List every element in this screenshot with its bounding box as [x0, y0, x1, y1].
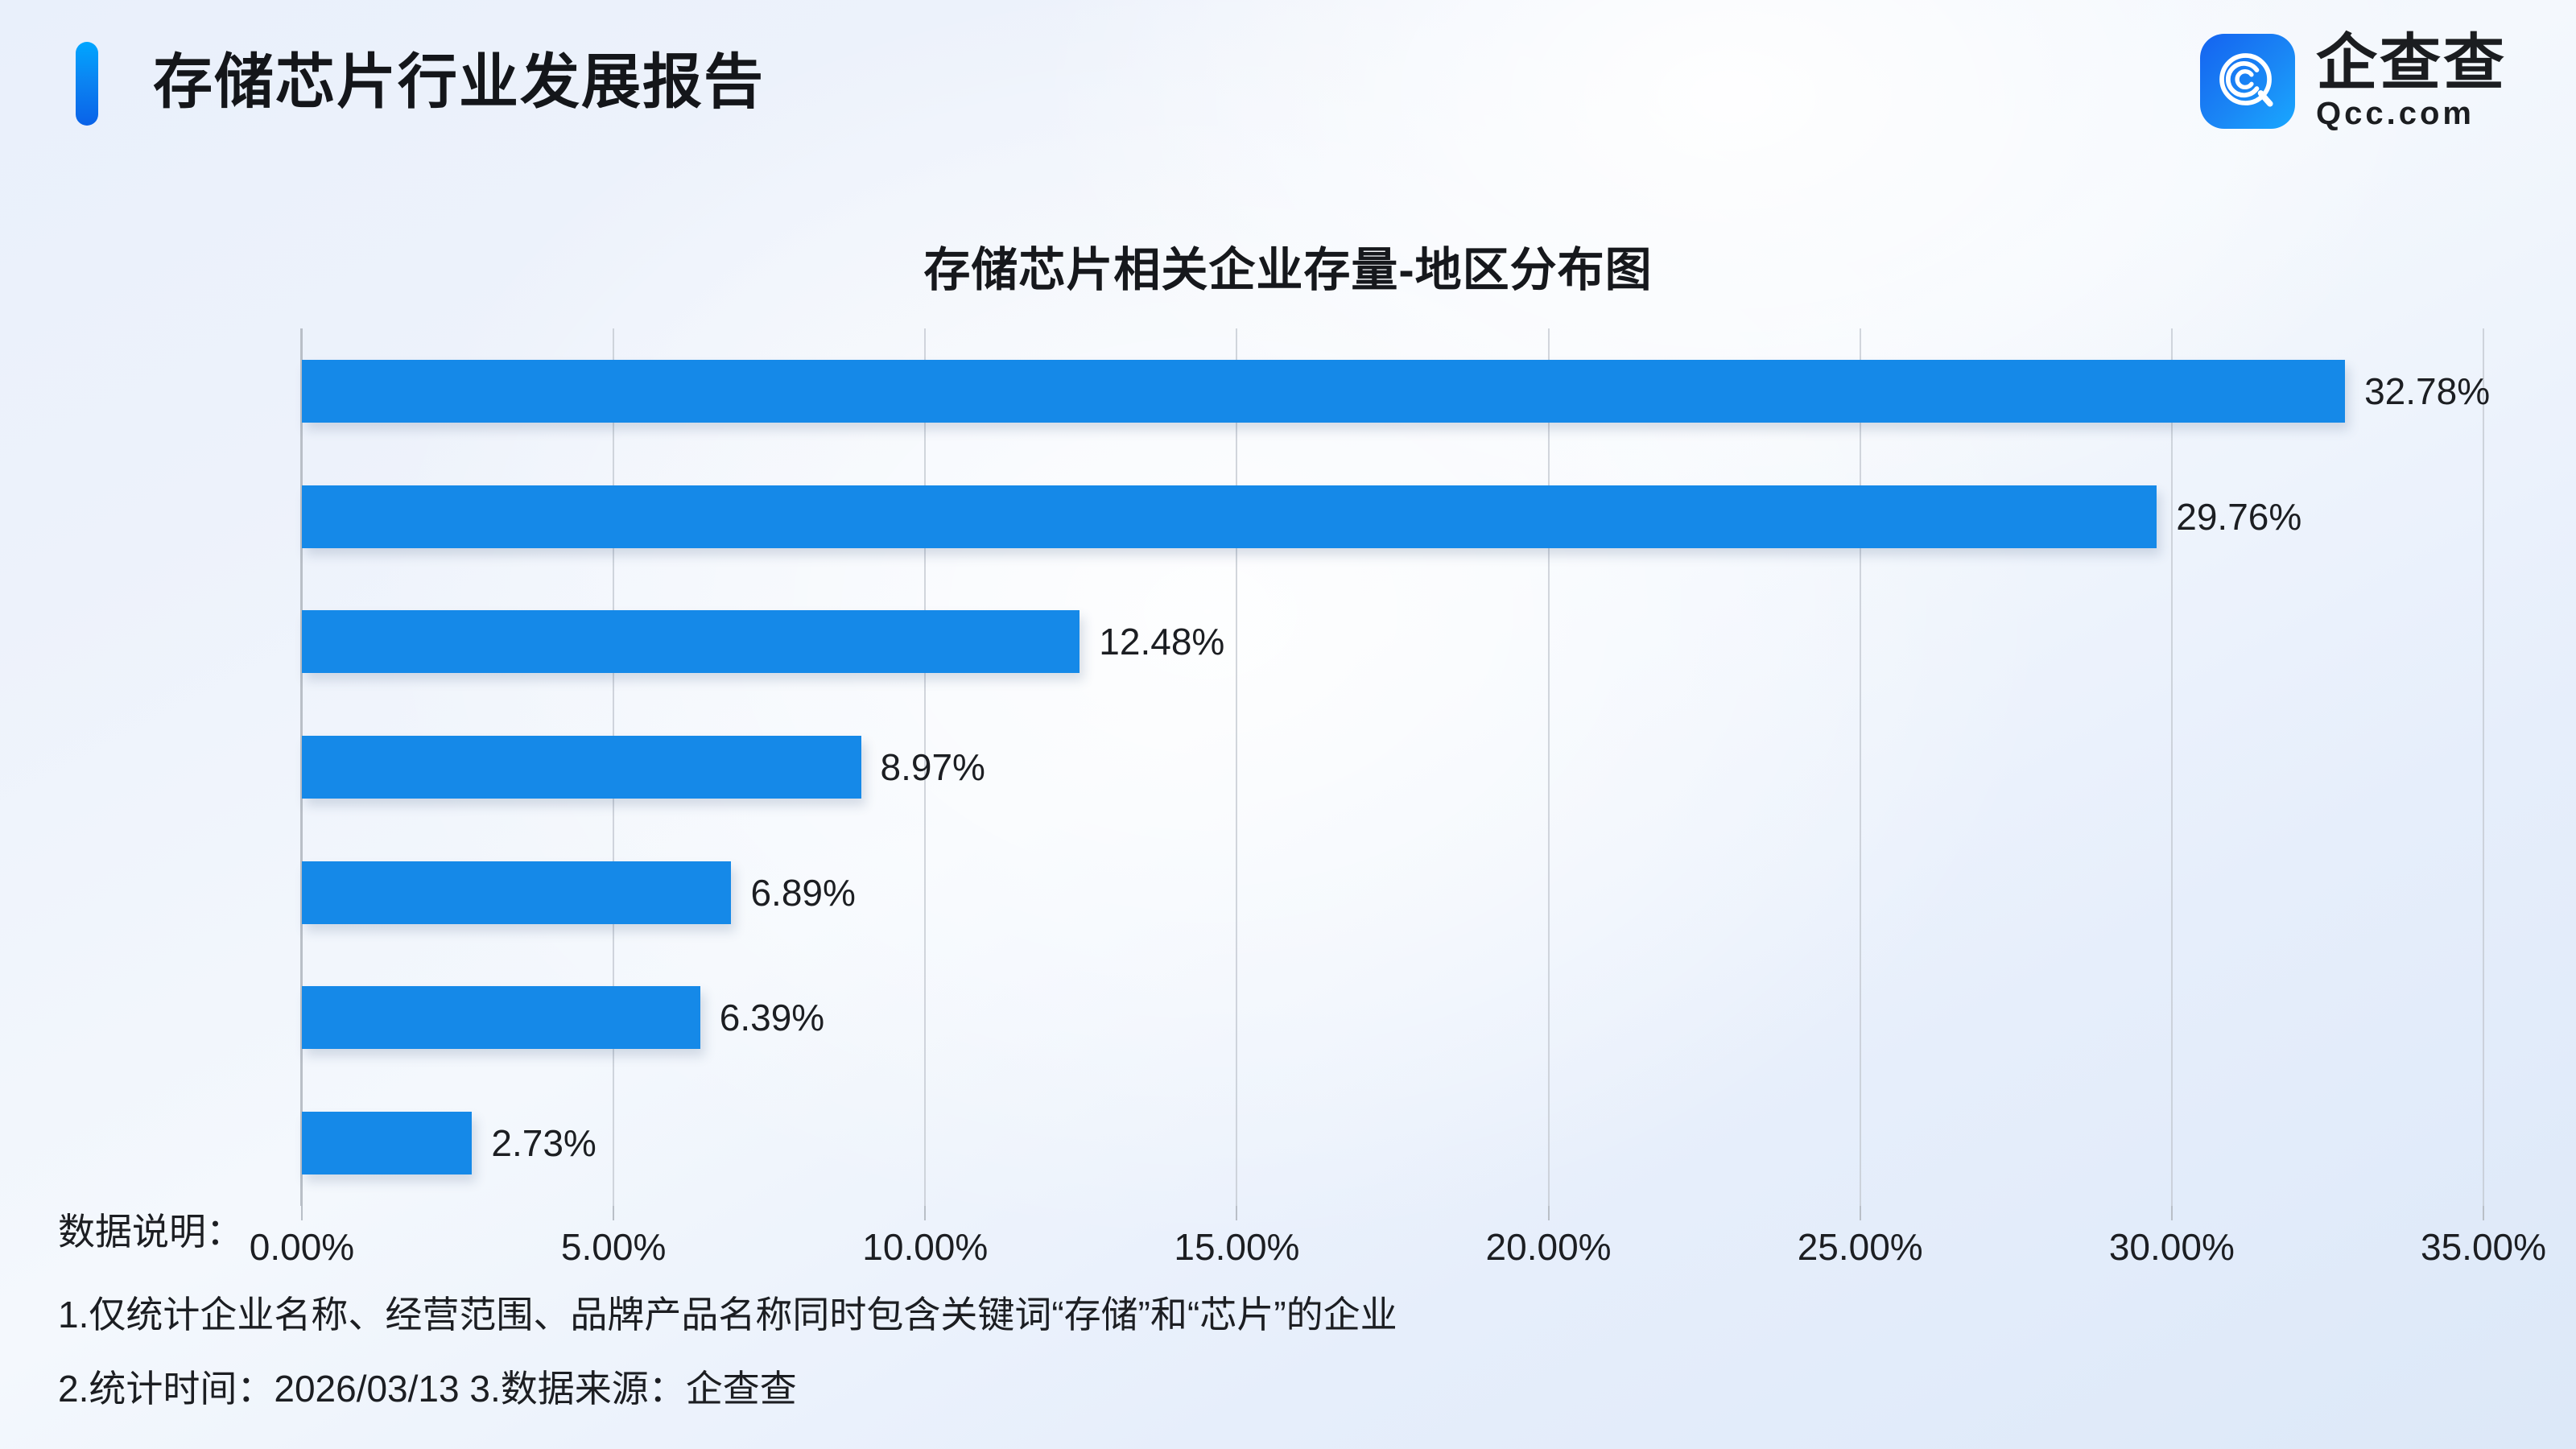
x-axis-tick: [2483, 1206, 2484, 1220]
bar-value-label: 8.97%: [881, 745, 985, 789]
bar-value-label: 32.78%: [2364, 369, 2490, 413]
x-axis-tick-label: 15.00%: [1174, 1225, 1299, 1269]
bar-value-label: 29.76%: [2176, 495, 2301, 539]
report-header: 存储芯片行业发展报告 企查查 Qcc.com: [0, 0, 2576, 173]
bar[interactable]: [302, 861, 731, 924]
qcc-spiral-q-icon: [2200, 34, 2295, 129]
page-title: 存储芯片行业发展报告: [153, 35, 765, 129]
bar[interactable]: [302, 986, 700, 1049]
logo-text-cn: 企查查: [2316, 31, 2507, 96]
bar-row[interactable]: 29.76%: [302, 485, 2483, 548]
x-axis-tick: [1236, 1206, 1237, 1220]
bar-value-label: 6.39%: [720, 996, 824, 1039]
bar-value-label: 6.89%: [750, 871, 855, 914]
x-axis-tick: [1548, 1206, 1550, 1220]
x-axis-tick-label: 20.00%: [1486, 1225, 1612, 1269]
x-axis-tick-label: 0.00%: [250, 1225, 354, 1269]
note-line-1: 1.仅统计企业名称、经营范围、品牌产品名称同时包含关键词“存储”和“芯片”的企业: [58, 1286, 1397, 1339]
x-axis-tick: [1860, 1206, 1861, 1220]
bar-row[interactable]: 2.73%: [302, 1112, 2483, 1174]
x-axis-tick-label: 5.00%: [561, 1225, 666, 1269]
bar-value-label: 12.48%: [1099, 620, 1224, 663]
x-axis-tick: [2171, 1206, 2173, 1220]
x-axis-tick-label: 35.00%: [2421, 1225, 2546, 1269]
x-axis-tick: [924, 1206, 926, 1220]
bar[interactable]: [302, 736, 861, 799]
notes-label: 数据说明：: [58, 1203, 243, 1256]
bar[interactable]: [302, 485, 2157, 548]
x-axis-tick-label: 25.00%: [1798, 1225, 1923, 1269]
x-axis-tick-label: 30.00%: [2109, 1225, 2235, 1269]
bar-row[interactable]: 12.48%: [302, 610, 2483, 673]
x-axis-tick: [613, 1206, 614, 1220]
x-axis-tick-label: 10.00%: [862, 1225, 988, 1269]
bar-row[interactable]: 6.39%: [302, 986, 2483, 1049]
x-axis-tick: [301, 1206, 303, 1220]
logo-wordmark: 企查查 Qcc.com: [2316, 34, 2507, 129]
bar[interactable]: [302, 1112, 472, 1174]
brand-logo: 企查查 Qcc.com: [2200, 32, 2507, 130]
bar-row[interactable]: 32.78%: [302, 360, 2483, 423]
bar-row[interactable]: 8.97%: [302, 736, 2483, 799]
logo-text-en: Qcc.com: [2316, 96, 2507, 131]
bar-row[interactable]: 6.89%: [302, 861, 2483, 924]
bar[interactable]: [302, 610, 1080, 673]
bar-value-label: 2.73%: [491, 1121, 596, 1165]
chart-title: 存储芯片相关企业存量-地区分布图: [0, 232, 2576, 299]
title-accent-bar: [76, 42, 98, 126]
note-line-2: 2.统计时间：2026/03/13 3.数据来源：企查查: [58, 1360, 797, 1413]
chart-plot-area: 32.78%29.76%12.48%8.97%6.89%6.39%2.73% 华…: [302, 328, 2483, 1206]
bar[interactable]: [302, 360, 2345, 423]
